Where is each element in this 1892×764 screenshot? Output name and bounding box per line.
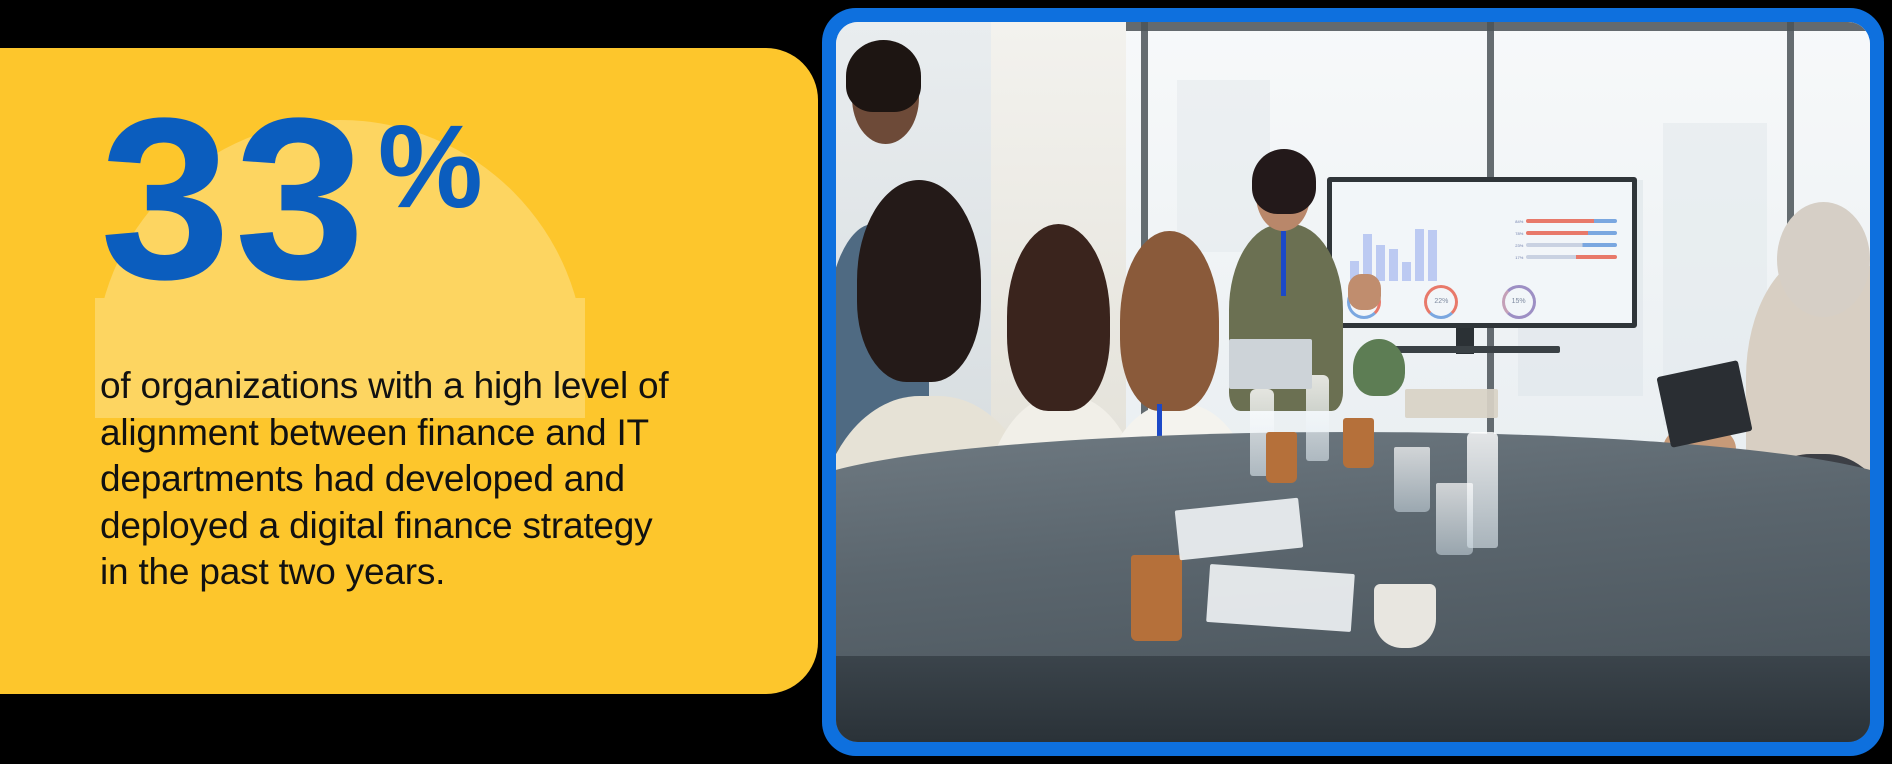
presenter-hand-right — [1348, 274, 1381, 310]
infographic-stage: 33 % of organizations with a high level … — [0, 0, 1892, 764]
progress-row: 17% — [1515, 255, 1617, 260]
attendee-3-head — [1007, 224, 1110, 411]
floor — [836, 656, 1870, 742]
coffee-cup-1 — [1266, 432, 1297, 482]
document-paper-2 — [1206, 564, 1354, 632]
attendee-5-head — [1777, 202, 1870, 317]
stat-line-1: of organizations with a high level of — [100, 363, 660, 410]
progress-row: 78% — [1515, 231, 1617, 236]
stat-number: 33 — [100, 98, 369, 300]
attendee-4-head — [1120, 231, 1218, 411]
progress-label: 84% — [1515, 219, 1523, 224]
coffee-cup-2 — [1343, 418, 1374, 468]
coffee-cup-3 — [1131, 555, 1183, 641]
stat-card: 33 % of organizations with a high level … — [0, 48, 818, 694]
donut-chart-2: 22% — [1424, 285, 1458, 319]
window-header-rail — [1126, 22, 1870, 31]
progress-label: 23% — [1515, 243, 1523, 248]
notebook — [1405, 389, 1498, 418]
monitor-donut-group: 35% 22% 15% — [1347, 285, 1617, 319]
monitor-base — [1394, 346, 1559, 353]
percent-symbol: % — [378, 108, 481, 226]
plant — [1353, 339, 1405, 397]
white-mug — [1374, 584, 1436, 649]
stat-description: of organizations with a high level of al… — [100, 363, 660, 596]
progress-label: 78% — [1515, 231, 1523, 236]
drinking-glass-1 — [1394, 447, 1429, 512]
progress-label: 17% — [1515, 255, 1523, 260]
stat-line-5: in the past two years. — [100, 549, 660, 596]
donut-chart-3: 15% — [1502, 285, 1536, 319]
drinking-glass-2 — [1436, 483, 1473, 555]
monitor-bar-chart — [1350, 216, 1437, 281]
stat-line-3: departments had developed and — [100, 456, 660, 503]
attendee-1-hair — [846, 40, 920, 112]
presenter-hair — [1252, 149, 1316, 214]
progress-row: 23% — [1515, 243, 1617, 248]
stat-line-2: alignment between finance and IT — [100, 410, 660, 457]
stat-line-4: deployed a digital finance strategy — [100, 503, 660, 550]
stat-headline: 33 % — [100, 98, 481, 300]
monitor-progress-list: 84% 78% 23% 17% — [1515, 219, 1617, 267]
presenter-lanyard — [1281, 231, 1286, 296]
meeting-photo: 84% 78% 23% 17% 35% 22% 15% — [836, 22, 1870, 742]
laptop — [1229, 339, 1312, 389]
photo-card: 84% 78% 23% 17% 35% 22% 15% — [822, 8, 1884, 756]
attendee-2-head — [857, 180, 981, 382]
progress-row: 84% — [1515, 219, 1617, 224]
